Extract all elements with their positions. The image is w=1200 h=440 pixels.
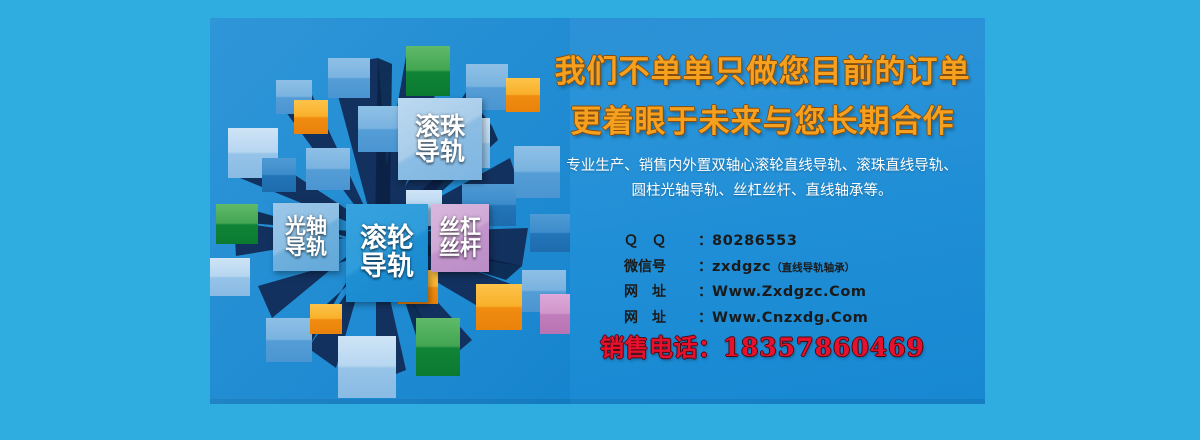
contact-separator: ： — [698, 281, 712, 301]
label-line-1: 丝杠 — [439, 217, 481, 238]
sales-phone-block: 销售电话：18357860469 — [540, 328, 985, 363]
wechat-id[interactable]: zxdgzc — [712, 259, 771, 275]
label-line-1: 滚轮 — [360, 225, 414, 253]
website-url-2[interactable]: Www.Cnzxdg.Com — [712, 310, 869, 326]
banner-stage: 滚珠 导轨 光轴 导轨 滚轮 导轨 丝杠 丝杆 我们不单单只做您目前的订单 更着… — [0, 0, 1200, 440]
label-line-2: 导轨 — [285, 237, 327, 258]
label-line-2: 导轨 — [415, 139, 465, 165]
product-label-guangzhou-daogui[interactable]: 光轴 导轨 — [273, 203, 339, 271]
exploding-cubes-illustration: 滚珠 导轨 光轴 导轨 滚轮 导轨 丝杠 丝杆 — [210, 18, 570, 404]
contact-row-qq: Ｑ Ｑ ： 80286553 — [624, 230, 954, 250]
contact-separator: ： — [698, 230, 712, 250]
website-url-1[interactable]: Www.Zxdgzc.Com — [712, 284, 867, 300]
contact-separator: ： — [698, 256, 712, 276]
sales-phone-label: 销售电话： — [600, 328, 723, 363]
product-label-gunzhu-daogui[interactable]: 滚珠 导轨 — [398, 98, 482, 180]
headline-line-2: 更着眼于未来与您长期合作 — [540, 102, 985, 143]
contact-row-website-1: 网 址 ： Www.Zxdgzc.Com — [624, 281, 954, 301]
label-line-1: 滚珠 — [415, 114, 465, 140]
company-description: 专业生产、销售内外置双轴心滚轮直线导轨、滚珠直线导轨、圆柱光轴导轨、丝杠丝杆、直… — [562, 154, 962, 204]
banner-copy: 我们不单单只做您目前的订单 更着眼于未来与您长期合作 专业生产、销售内外置双轴心… — [540, 18, 985, 404]
contact-key: 微信号 — [624, 256, 698, 276]
contact-info-block: Ｑ Ｑ ： 80286553 微信号 ： zxdgzc （直线导轨轴承） 网 址… — [624, 230, 954, 332]
contact-separator: ： — [698, 307, 712, 327]
headline-line-1: 我们不单单只做您目前的订单 — [540, 52, 985, 93]
product-label-gunlun-daogui[interactable]: 滚轮 导轨 — [346, 204, 428, 302]
contact-row-wechat: 微信号 ： zxdgzc （直线导轨轴承） — [624, 256, 954, 276]
contact-key: 网 址 — [624, 307, 698, 327]
label-line-1: 光轴 — [285, 216, 327, 237]
promo-banner: 滚珠 导轨 光轴 导轨 滚轮 导轨 丝杠 丝杆 我们不单单只做您目前的订单 更着… — [210, 18, 985, 404]
sales-phone-number[interactable]: 18357860469 — [723, 333, 925, 362]
product-label-sigang-sigan[interactable]: 丝杠 丝杆 — [431, 204, 489, 272]
qq-number[interactable]: 80286553 — [712, 233, 798, 249]
label-line-2: 导轨 — [360, 253, 414, 281]
wechat-note: （直线导轨轴承） — [771, 260, 855, 275]
label-line-2: 丝杆 — [439, 238, 481, 259]
contact-key: 网 址 — [624, 281, 698, 301]
contact-key: Ｑ Ｑ — [624, 230, 698, 250]
contact-row-website-2: 网 址 ： Www.Cnzxdg.Com — [624, 307, 954, 327]
